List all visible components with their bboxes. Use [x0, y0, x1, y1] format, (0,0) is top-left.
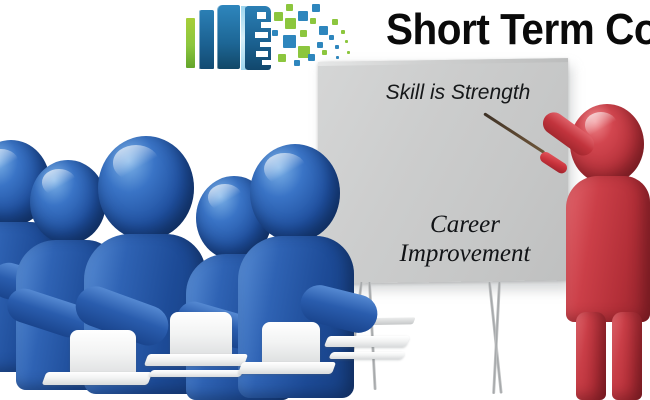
head-gloss — [42, 169, 75, 196]
figure-head — [30, 160, 106, 244]
logo-pixel-square — [341, 30, 345, 34]
banner-title: Short Term Cou — [386, 7, 650, 53]
chair-armrest — [328, 352, 405, 359]
logo-pixel-square — [347, 51, 350, 54]
chair-seat — [42, 372, 153, 385]
head-gloss — [585, 112, 618, 138]
logo-page-notch — [261, 22, 271, 28]
whiteboard-body-line-2: Improvement — [366, 239, 564, 268]
whiteboard-body-line-1: Career — [366, 210, 564, 239]
logo-pixel-square — [335, 45, 339, 49]
chair-seat — [324, 336, 410, 347]
logo-pixel-square — [322, 50, 327, 55]
head-gloss — [208, 184, 241, 211]
logo-pixel-square — [300, 30, 307, 37]
chair-seat — [144, 354, 248, 366]
head-gloss — [113, 145, 159, 180]
logo-pixel-square — [312, 4, 320, 12]
logo-pixel-square — [336, 56, 339, 59]
logo-pixel-square — [308, 54, 315, 61]
banner-image: Short Term Cou Skill is Strength Career … — [0, 0, 650, 400]
logo-pixel-square — [319, 26, 328, 35]
logo-pixel-square — [286, 4, 293, 11]
presenter-leg — [576, 312, 606, 400]
logo-page-notch — [255, 32, 268, 38]
logo-book-page-left-outer — [199, 10, 214, 69]
figure-head — [98, 136, 194, 240]
logo-pixel-square — [329, 35, 334, 40]
presenter-torso — [566, 176, 650, 322]
logo-pixel-square — [345, 40, 348, 43]
logo-pixel-square — [310, 18, 316, 24]
logo-page-notch — [257, 12, 266, 19]
logo-pixel-square — [298, 11, 308, 21]
logo-pixel-square — [317, 42, 323, 48]
logo-pixel-square — [274, 12, 283, 21]
logo-green-bar — [186, 18, 195, 68]
logo-page-notch — [262, 60, 271, 65]
chair-armrest — [149, 370, 244, 377]
logo-pixel-square — [285, 18, 296, 29]
whiteboard-surface: Skill is Strength Career Improvement — [318, 60, 568, 282]
logo-pixel-square — [278, 54, 286, 62]
head-gloss — [0, 149, 19, 178]
whiteboard-body-text: Career Improvement — [366, 210, 564, 268]
presenter-leg — [612, 312, 642, 400]
chair-seat — [238, 362, 336, 374]
logo-pixel-square — [283, 35, 296, 48]
logo-page-notch — [260, 42, 271, 47]
whiteboard-heading-text: Skill is Strength — [358, 81, 558, 105]
logo-pixel-square — [272, 30, 278, 36]
logo-pixel-square — [294, 60, 300, 66]
presentation-whiteboard: Skill is Strength Career Improvement — [318, 58, 568, 284]
logo-book-page-left-inner — [217, 5, 240, 69]
logo-pixel-square — [332, 19, 338, 25]
figure-head — [250, 144, 340, 242]
logo-page-notch — [256, 51, 268, 57]
head-gloss — [264, 153, 305, 185]
